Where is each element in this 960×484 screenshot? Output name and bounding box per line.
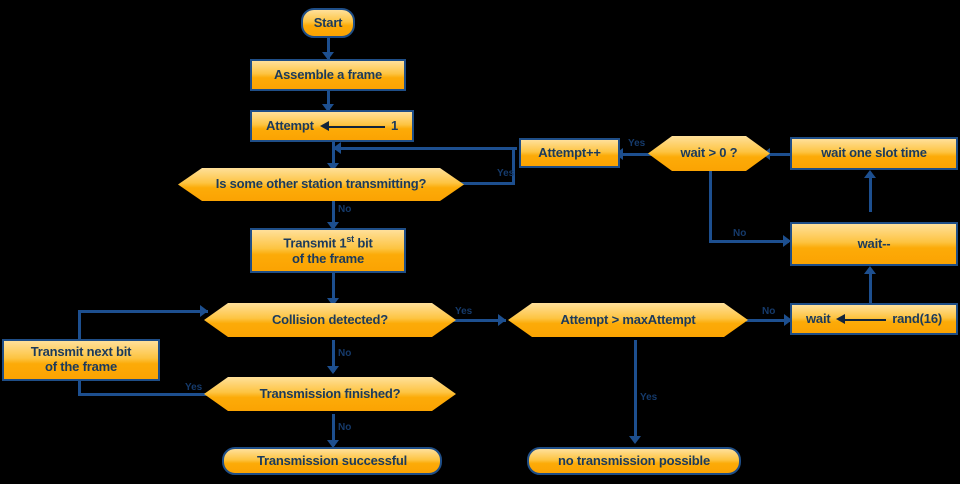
arrowhead-waitoneslot-in (864, 170, 876, 178)
edge-label-waitgtzero-yes: Yes (628, 138, 645, 149)
edge-label-otherstation-no: No (338, 204, 351, 215)
node-transmit-first-bit[interactable]: Transmit 1st bit of the frame (250, 228, 406, 273)
node-wait-decrement[interactable]: wait-- (790, 222, 958, 266)
assign-arrow-icon (320, 120, 385, 132)
node-transmitfirst-label: Transmit 1st bit of the frame (283, 234, 372, 266)
edge-label-transmissiondone-no: No (338, 422, 351, 433)
node-attemptmax-label: Attempt > maxAttempt (560, 313, 695, 328)
edge-label-attemptmax-yes: Yes (640, 392, 657, 403)
node-waitoneslot-label: wait one slot time (821, 146, 926, 161)
arrowhead-collision-left-in (200, 305, 208, 317)
arrowhead-trunk-in (333, 142, 341, 154)
transmitnext-line2: of the frame (45, 359, 117, 374)
attempt-init-lhs: Attempt (266, 119, 314, 134)
arrowhead-attemptmax-in (498, 314, 506, 326)
node-is-some-other-station-transmitting[interactable]: Is some other station transmitting? (178, 168, 464, 201)
node-wait-gt-zero[interactable]: wait > 0 ? (648, 136, 770, 171)
node-attempt-increment[interactable]: Attempt++ (519, 138, 620, 168)
node-attempt-gt-maxattempt[interactable]: Attempt > maxAttempt (508, 303, 748, 337)
node-assemble-a-frame[interactable]: Assemble a frame (250, 59, 406, 91)
node-wait-one-slot-time[interactable]: wait one slot time (790, 137, 958, 170)
node-transmitnext-label: Transmit next bit of the frame (31, 345, 132, 375)
edge-label-collision-no: No (338, 348, 351, 359)
node-success-label: Transmission successful (257, 454, 407, 469)
edge-label-transmissiondone-yes: Yes (185, 382, 202, 393)
transmitfirst-superscript: st (346, 234, 354, 244)
edge-waitgtzero-no-h (709, 240, 789, 243)
transmitfirst-line1-post: bit (354, 236, 373, 251)
assign-arrow-icon-2 (836, 313, 886, 325)
edge-waitrand-waitdec (869, 272, 872, 304)
flowchart-canvas: Yes No Yes No Yes No Yes No Yes No Start… (0, 0, 960, 484)
assignment-wait-rand: wait rand(16) (792, 312, 956, 327)
node-transmission-successful[interactable]: Transmission successful (222, 447, 442, 475)
edge-waitgtzero-no-v (709, 170, 712, 242)
edge-label-otherstation-yes: Yes (497, 168, 514, 179)
edge-attemptinc-trunk (333, 147, 517, 150)
edge-label-collision-yes: Yes (455, 306, 472, 317)
node-collision-label: Collision detected? (272, 313, 388, 328)
node-start-label: Start (314, 16, 343, 31)
node-attemptinc-label: Attempt++ (538, 146, 601, 161)
edge-transmitnext-collision-h (78, 310, 208, 313)
edge-waitdec-waitoneslot (869, 176, 872, 212)
wait-rand-rhs: rand(16) (892, 312, 942, 327)
transmitnext-line1: Transmit next bit (31, 344, 132, 359)
node-start[interactable]: Start (301, 8, 355, 38)
arrowhead-transmissiondone-in (327, 366, 339, 374)
edge-transmissiondone-yes-v (78, 379, 81, 395)
node-attempt-init[interactable]: Attempt 1 (250, 110, 414, 142)
transmitfirst-line1-pre: Transmit 1 (283, 236, 346, 251)
edge-attemptmax-yes (634, 340, 637, 440)
node-transmission-finished[interactable]: Transmission finished? (204, 377, 456, 411)
edge-transmitnext-collision-v (78, 310, 81, 340)
edge-label-attemptmax-no: No (762, 306, 775, 317)
node-no-transmission-possible[interactable]: no transmission possible (527, 447, 741, 475)
node-collision-detected[interactable]: Collision detected? (204, 303, 456, 337)
edge-transmissiondone-yes-h (78, 393, 208, 396)
assignment-attempt-init: Attempt 1 (252, 119, 412, 134)
edge-otherstation-yes-h (455, 182, 515, 185)
node-assemble-label: Assemble a frame (274, 68, 382, 83)
node-transmit-next-bit[interactable]: Transmit next bit of the frame (2, 339, 160, 381)
transmitfirst-line2: of the frame (292, 251, 364, 266)
attempt-init-rhs: 1 (391, 119, 398, 134)
node-wait-rand[interactable]: wait rand(16) (790, 303, 958, 335)
edge-label-waitgtzero-no: No (733, 228, 746, 239)
arrowhead-waitdec-in (864, 266, 876, 274)
node-waitgtzero-label: wait > 0 ? (681, 146, 738, 161)
node-notransmission-label: no transmission possible (558, 454, 710, 469)
node-transmissiondone-label: Transmission finished? (260, 387, 401, 402)
node-otherstation-label: Is some other station transmitting? (216, 177, 426, 192)
wait-rand-lhs: wait (806, 312, 830, 327)
arrowhead-notransmission-in (629, 436, 641, 444)
node-waitdec-label: wait-- (858, 237, 891, 252)
